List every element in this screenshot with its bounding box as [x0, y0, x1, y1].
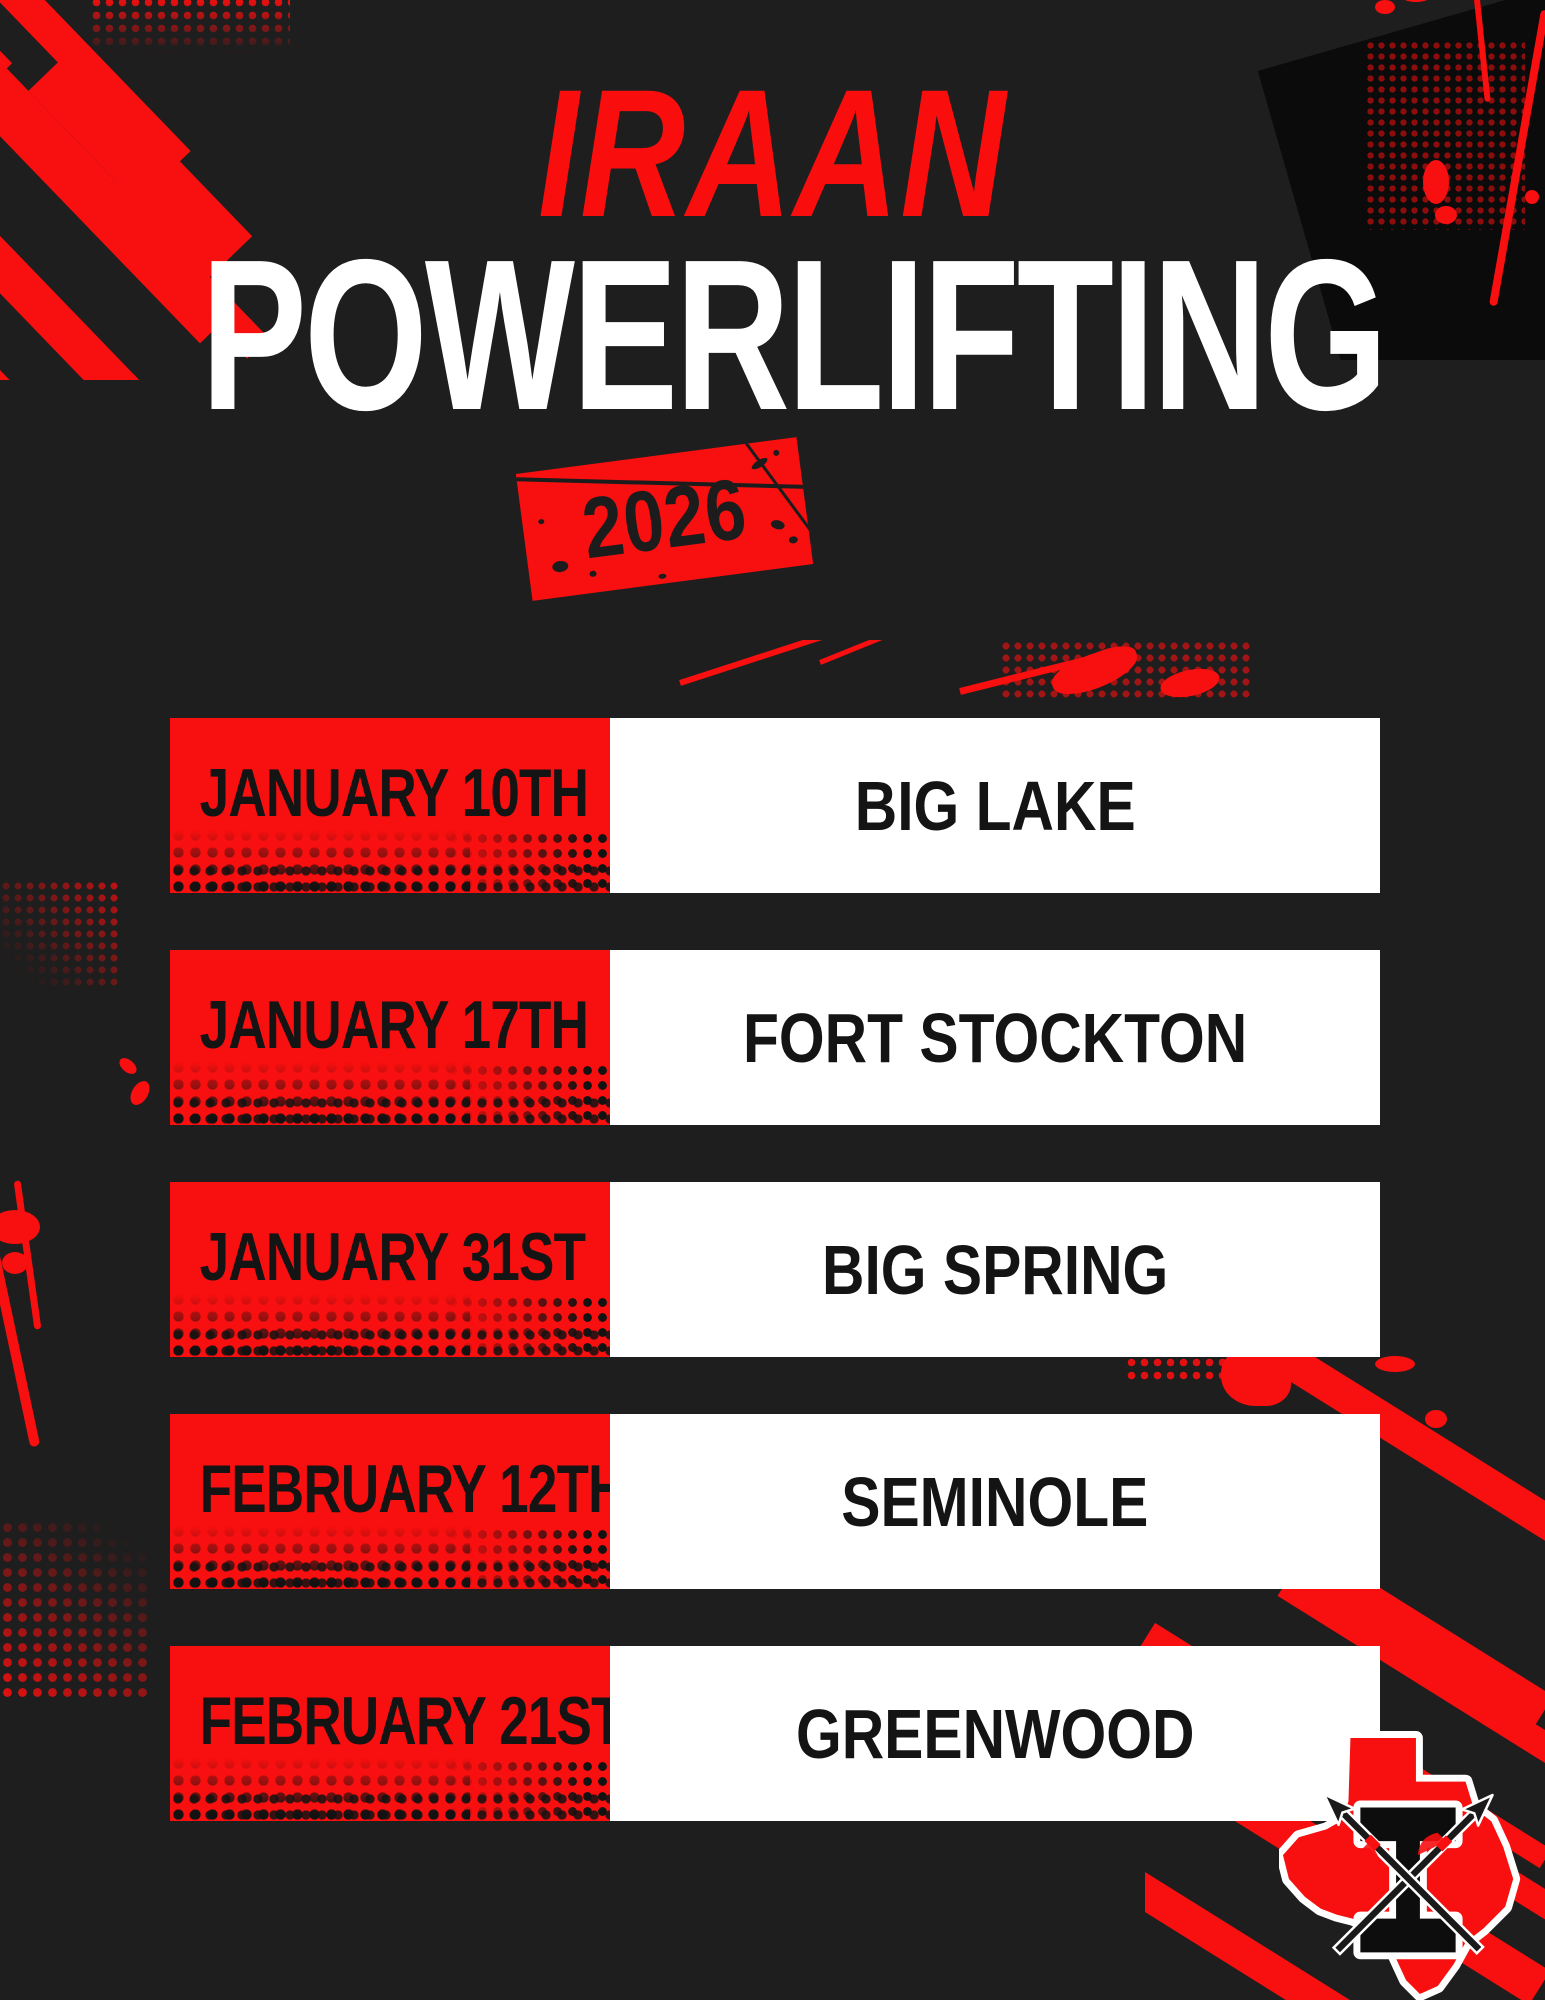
schedule-date-cell: JANUARY 31ST [170, 1182, 610, 1357]
schedule-location-label: GREENWOOD [796, 1699, 1195, 1769]
schedule-row: JANUARY 31ST BIG SPRING [170, 1182, 1380, 1357]
schedule-date-cell: JANUARY 10TH [170, 718, 610, 893]
halftone-bottom [170, 1559, 610, 1589]
schedule-date-cell: FEBRUARY 12TH [170, 1414, 610, 1589]
schedule-date-cell: JANUARY 17TH [170, 950, 610, 1125]
schedule-date-label: JANUARY 10TH [170, 759, 588, 827]
halftone-bottom [170, 863, 610, 893]
schedule-date-label: FEBRUARY 21ST [170, 1687, 610, 1755]
logo-svg [1279, 1730, 1537, 2000]
iraan-braves-logo [1279, 1730, 1537, 2000]
year-badge: 2026 [516, 437, 813, 601]
schedule-date-label: FEBRUARY 12TH [170, 1455, 610, 1523]
year-label: 2026 [538, 440, 790, 598]
schedule-location-label: BIG SPRING [822, 1235, 1168, 1305]
schedule-date-label: JANUARY 17TH [170, 991, 588, 1059]
schedule-list: JANUARY 10TH BIG LAKE JANUARY 17TH FORT … [170, 718, 1380, 1821]
schedule-location-label: SEMINOLE [841, 1467, 1148, 1537]
halftone-bottom [170, 1791, 610, 1821]
schedule-row: JANUARY 17TH FORT STOCKTON [170, 950, 1380, 1125]
schedule-location-cell: BIG LAKE [610, 718, 1380, 893]
poster-header: IRAAN POWERLIFTING [0, 0, 1545, 434]
schedule-row: JANUARY 10TH BIG LAKE [170, 718, 1380, 893]
schedule-date-label: JANUARY 31ST [170, 1223, 585, 1291]
halftone-bottom [170, 1095, 610, 1125]
schedule-location-cell: BIG SPRING [610, 1182, 1380, 1357]
page-title-main: POWERLIFTING [201, 236, 1344, 434]
schedule-location-label: BIG LAKE [855, 771, 1136, 841]
schedule-location-cell: FORT STOCKTON [610, 950, 1380, 1125]
schedule-row: FEBRUARY 12TH SEMINOLE [170, 1414, 1380, 1589]
schedule-date-cell: FEBRUARY 21ST [170, 1646, 610, 1821]
halftone-bottom [170, 1327, 610, 1357]
schedule-row: FEBRUARY 21ST GREENWOOD [170, 1646, 1380, 1821]
page-title-top: IRAAN [155, 0, 1391, 244]
schedule-location-cell: GREENWOOD [610, 1646, 1380, 1821]
schedule-location-label: FORT STOCKTON [743, 1003, 1247, 1073]
schedule-location-cell: SEMINOLE [610, 1414, 1380, 1589]
decoration-left-edge-grunge [0, 880, 165, 1700]
poster-canvas: IRAAN POWERLIFTING 2026 JANUARY 10TH BIG… [0, 0, 1545, 2000]
